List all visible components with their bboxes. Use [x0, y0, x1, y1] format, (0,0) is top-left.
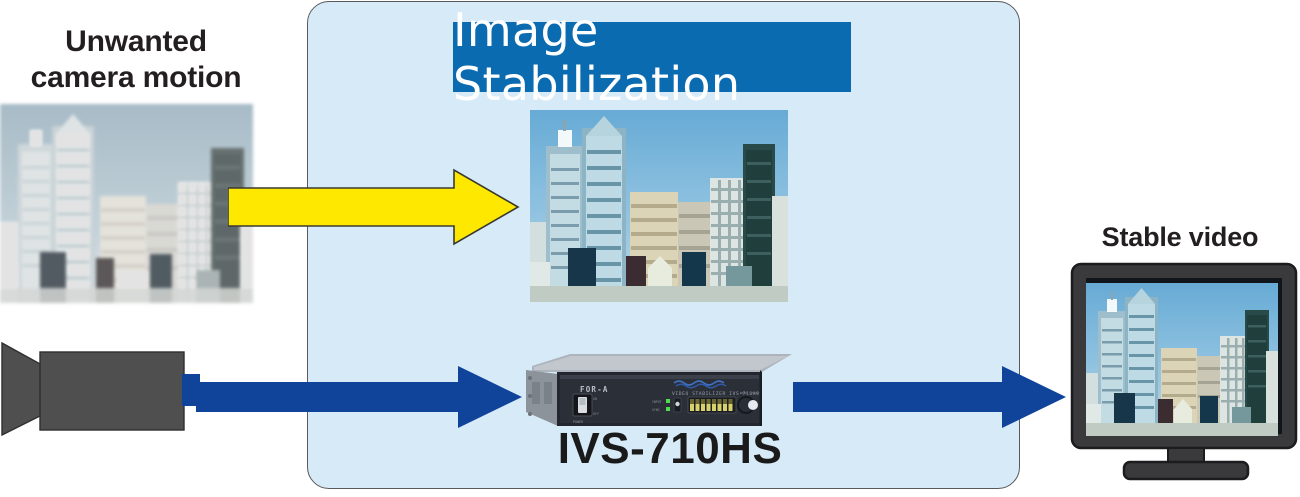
blurred-skyline-graphic — [0, 104, 253, 303]
svg-text:MODE: MODE — [740, 391, 747, 395]
stabilized-skyline-graphic — [530, 110, 788, 302]
blurred-skyline-image — [0, 104, 253, 303]
stabilized-skyline-image — [530, 110, 788, 302]
label-unwanted-line-2: camera motion — [0, 60, 272, 96]
ivs-710hs-device: FOR-A VIDEO STABILIZER IVS-710HS ON OFF … — [524, 352, 796, 430]
svg-text:ON: ON — [593, 397, 597, 401]
svg-text:FOR-A: FOR-A — [580, 385, 609, 394]
arrow-unstable-to-stable — [228, 168, 520, 246]
svg-text:OFF: OFF — [593, 412, 599, 416]
svg-text:SYNC: SYNC — [652, 408, 660, 412]
yellow-arrow-graphic — [228, 168, 520, 246]
video-camera-icon — [0, 341, 200, 437]
label-product-name: IVS-710HS — [460, 424, 880, 474]
diagram-canvas: Unwanted camera motion — [0, 0, 1300, 492]
banner-text: Image Stabilization — [453, 3, 851, 111]
camera-graphic — [0, 341, 200, 437]
arrow-device-to-monitor — [793, 365, 1068, 429]
svg-text:INPUT: INPUT — [652, 400, 662, 404]
device-graphic: FOR-A VIDEO STABILIZER IVS-710HS ON OFF … — [524, 352, 796, 430]
navy-arrow-1-graphic — [196, 365, 524, 429]
label-stable-video: Stable video — [1060, 222, 1300, 253]
svg-text:SHIFT: SHIFT — [752, 391, 761, 395]
navy-arrow-2-graphic — [793, 365, 1068, 429]
label-unwanted-line-1: Unwanted — [0, 24, 272, 60]
monitor-screen-image — [1086, 283, 1278, 436]
label-unwanted-camera-motion: Unwanted camera motion — [0, 24, 272, 96]
monitor-skyline-graphic — [1086, 283, 1278, 436]
arrow-camera-to-device — [196, 365, 524, 429]
image-stabilization-banner: Image Stabilization — [453, 22, 851, 92]
